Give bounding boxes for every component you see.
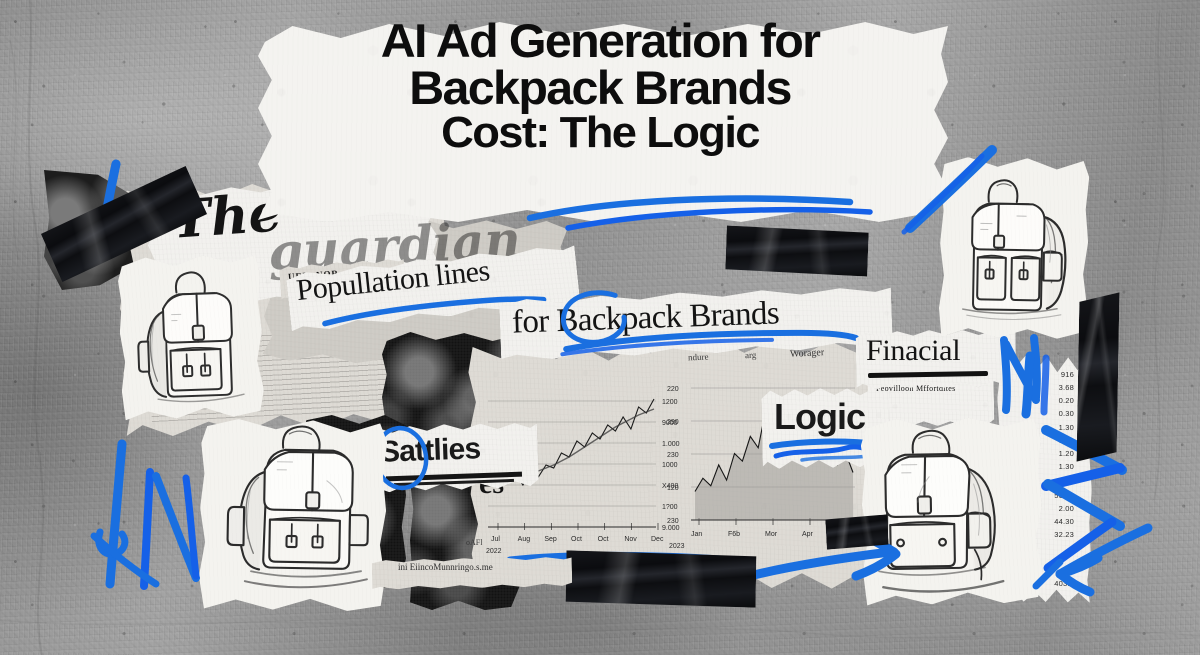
- svg-text:220: 220: [667, 386, 679, 393]
- headline-line-2: Backpack Brands: [0, 65, 1200, 112]
- tape-bottom-right-small: [825, 514, 889, 549]
- backpack-sketch-icon: [938, 157, 1089, 340]
- svg-text:230: 230: [667, 452, 679, 459]
- clipping-mid-fragment: ndure: [688, 352, 709, 363]
- backpack-sketch-icon: [860, 416, 1043, 605]
- svg-text:Apr: Apr: [802, 531, 814, 538]
- stock-listing-row: 0.30: [1012, 407, 1074, 420]
- tape-top-center: [725, 226, 869, 277]
- svg-text:2022: 2022: [486, 548, 502, 555]
- svg-text:290: 290: [667, 419, 679, 426]
- svg-text:Oct: Oct: [598, 536, 609, 543]
- stock-listing-row: 916: [1012, 368, 1074, 381]
- clipping-logic: Logic: [774, 396, 865, 438]
- backpack-panel-bottom-left: [198, 418, 387, 611]
- backpack-sketch-icon: [198, 418, 387, 611]
- stock-listing-row: 3.68: [1012, 381, 1074, 394]
- headline-line-1: AI Ad Generation for: [0, 18, 1200, 65]
- svg-text:Jan: Jan: [691, 531, 702, 538]
- backpack-panel-bottom-right: [860, 416, 1043, 605]
- tape-bottom-center: [566, 550, 757, 607]
- stock-listing-row: 0.20: [1012, 394, 1074, 407]
- page-title: AI Ad Generation for Backpack Brands Cos…: [0, 18, 1200, 155]
- backpack-panel-left: [117, 254, 265, 421]
- svg-text:Jul: Jul: [491, 536, 500, 543]
- svg-text:Sep: Sep: [544, 536, 557, 543]
- svg-text:2023: 2023: [669, 543, 685, 550]
- clipping-mid-fragment-2: arg: [745, 350, 757, 360]
- clipping-bottom-credit: ini EiincoMunnringo.s.me: [398, 562, 493, 572]
- collage-canvas: JulAugSepOctOctNovDec 120090001.0001000X…: [0, 0, 1200, 655]
- svg-text:Aug: Aug: [518, 536, 531, 543]
- clipping-sattlies: Sattlies: [379, 432, 480, 469]
- tape-right-edge: [1077, 292, 1120, 463]
- svg-text:Nov: Nov: [624, 536, 637, 543]
- clipping-bottom-fragment: oAFl: [466, 538, 482, 547]
- svg-text:Mor: Mor: [765, 531, 778, 538]
- svg-text:120: 120: [667, 485, 679, 492]
- backpack-panel-top-right: [938, 157, 1089, 340]
- backpack-sketch-icon: [117, 254, 265, 421]
- svg-text:230: 230: [667, 518, 679, 525]
- svg-text:F6b: F6b: [728, 531, 740, 538]
- headline-line-3: Cost: The Logic: [0, 111, 1200, 155]
- svg-text:Oct: Oct: [571, 536, 582, 543]
- clipping-finacial: Finacial: [866, 334, 960, 368]
